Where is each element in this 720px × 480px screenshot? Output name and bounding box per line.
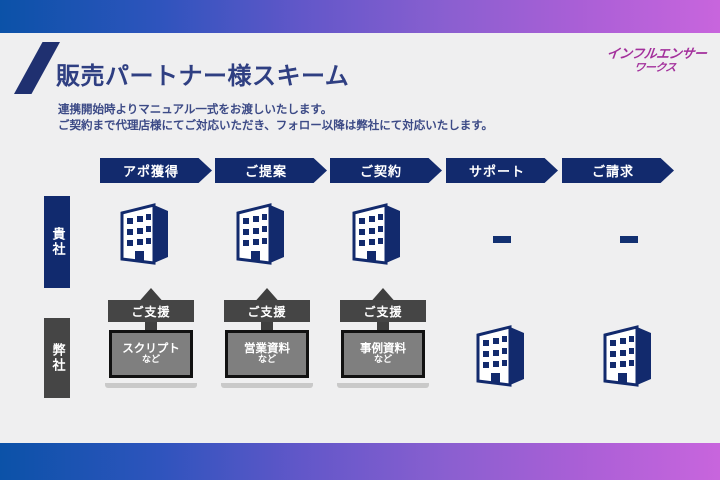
laptop-doc-title-step1: スクリプト (122, 342, 180, 355)
laptop-base-step2 (221, 383, 313, 388)
laptop-document-step1: スクリプト など (105, 330, 197, 388)
subtitle-block: 連携開始時よりマニュアル一式をお渡しいたします。 ご契約まで代理店様にてご対応い… (58, 101, 493, 133)
laptop-doc-title-step2: 営業資料 (244, 342, 290, 355)
step-banner-1[interactable]: アポ獲得 (100, 158, 212, 183)
support-label-step1: ご支援 (108, 300, 194, 322)
building-icon-partner-step4 (472, 325, 530, 387)
laptop-document-step3: 事例資料 など (337, 330, 429, 388)
building-icon-step1 (116, 203, 174, 265)
laptop-doc-note-step3: など (374, 355, 392, 365)
laptop-screen-step2: 営業資料 など (225, 330, 309, 378)
brand-logo: インフルエンサー ワークス (605, 48, 707, 73)
laptop-screen-step1: スクリプト など (109, 330, 193, 378)
building-icon-partner-step5 (599, 325, 657, 387)
slide-canvas: 販売パートナー様スキーム 連携開始時よりマニュアル一式をお渡しいたします。 ご契… (0, 0, 720, 480)
bottom-gradient-band (0, 443, 720, 480)
laptop-doc-note-step2: など (258, 355, 276, 365)
laptop-screen-step3: 事例資料 など (341, 330, 425, 378)
support-label-step3: ご支援 (340, 300, 426, 322)
laptop-base-step1 (105, 383, 197, 388)
dash-placeholder-step4 (493, 236, 511, 243)
brand-logo-line-2: ワークス (605, 62, 706, 74)
building-icon-step2 (232, 203, 290, 265)
subtitle-line-2: ご契約まで代理店様にてご対応いただき、フォロー以降は弊社にて対応いたします。 (58, 117, 493, 133)
dash-placeholder-step5 (620, 236, 638, 243)
support-label-step2: ご支援 (224, 300, 310, 322)
step-banner-5[interactable]: ご請求 (562, 158, 674, 183)
building-icon-step3 (348, 203, 406, 265)
title-slash-accent (14, 42, 60, 94)
step-banner-3[interactable]: ご契約 (330, 158, 442, 183)
step-banner-2[interactable]: ご提案 (215, 158, 327, 183)
laptop-base-step3 (337, 383, 429, 388)
laptop-doc-note-step1: など (142, 355, 160, 365)
laptop-document-step2: 営業資料 など (221, 330, 313, 388)
page-title: 販売パートナー様スキーム (56, 56, 349, 91)
row-label-client: 貴社 (44, 196, 70, 288)
step-banner-4[interactable]: サポート (446, 158, 558, 183)
brand-logo-line-1: インフルエンサー (606, 48, 707, 62)
laptop-doc-title-step3: 事例資料 (360, 342, 406, 355)
subtitle-line-1: 連携開始時よりマニュアル一式をお渡しいたします。 (58, 101, 493, 117)
row-label-partner: 弊社 (44, 318, 70, 398)
top-gradient-band (0, 0, 720, 33)
